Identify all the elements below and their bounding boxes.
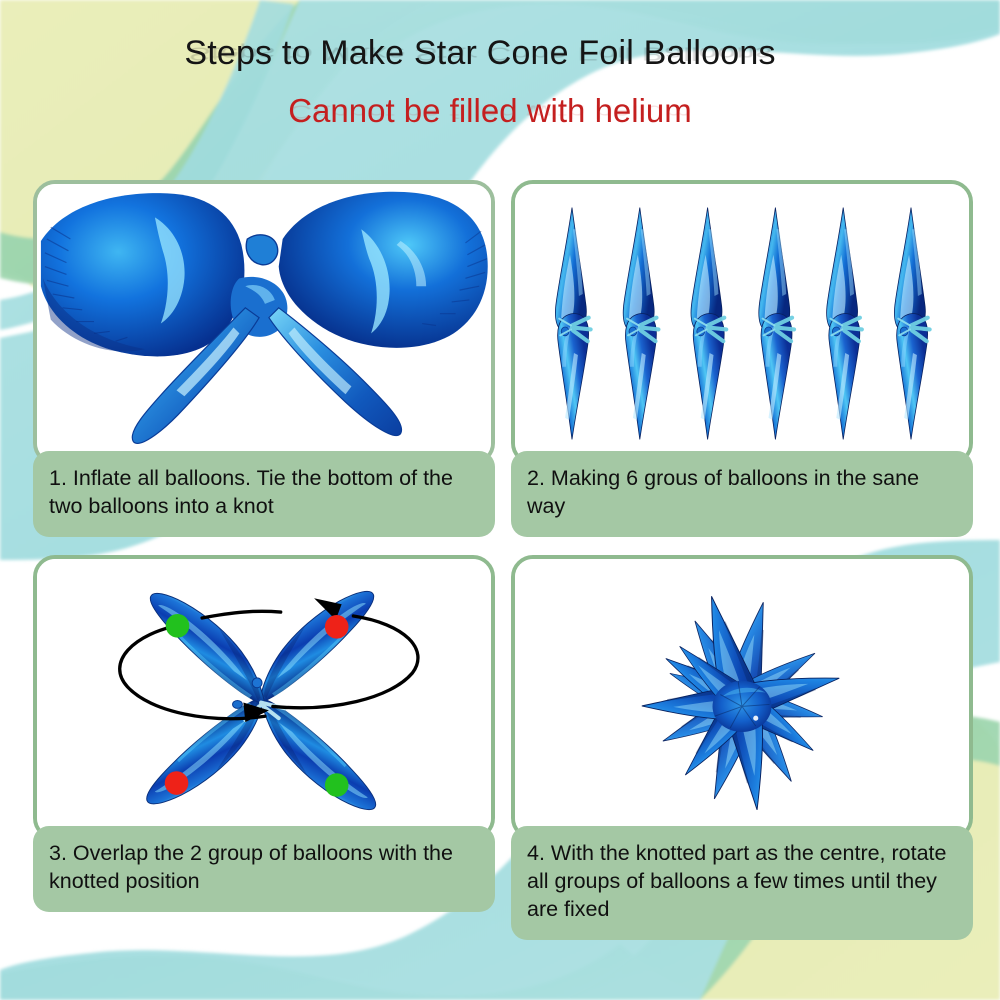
finished-star-cone-balloon-photo	[515, 559, 969, 839]
two-inflated-foil-balloons-knotted-photo	[37, 184, 491, 464]
six-balloon-pairs-photo	[515, 184, 969, 464]
page-subtitle: Cannot be filled with helium	[0, 92, 980, 130]
overlap-two-groups-diagram	[37, 559, 491, 839]
page-title: Steps to Make Star Cone Foil Balloons	[0, 34, 960, 73]
marker-red-topright	[325, 615, 349, 639]
wave-green-bottom-upper	[0, 944, 700, 1000]
step-card-1: 1. Inflate all balloons. Tie the bottom …	[33, 180, 495, 537]
star-centre-hub	[713, 681, 772, 732]
marker-red-bottomleft	[165, 771, 189, 795]
step-4-image-frame	[511, 555, 973, 840]
step-card-3: 3. Overlap the 2 group of balloons with …	[33, 555, 495, 912]
step-3-image-frame	[33, 555, 495, 840]
page-header: Steps to Make Star Cone Foil Balloons St…	[0, 0, 1000, 160]
marker-green-topleft	[166, 614, 190, 638]
step-card-4: 4. With the knotted part as the centre, …	[511, 555, 973, 940]
step-2-caption: 2. Making 6 grous of balloons in the san…	[511, 451, 973, 537]
step-1-caption: 1. Inflate all balloons. Tie the bottom …	[33, 451, 495, 537]
marker-green-bottomright	[325, 773, 349, 797]
step-3-caption: 3. Overlap the 2 group of balloons with …	[33, 826, 495, 912]
step-2-image-frame	[511, 180, 973, 465]
step-card-2: 2. Making 6 grous of balloons in the san…	[511, 180, 973, 537]
step-1-image-frame	[33, 180, 495, 465]
step-4-caption: 4. With the knotted part as the centre, …	[511, 826, 973, 940]
left-balloon-lobe	[41, 193, 245, 356]
steps-grid: 1. Inflate all balloons. Tie the bottom …	[33, 180, 973, 920]
